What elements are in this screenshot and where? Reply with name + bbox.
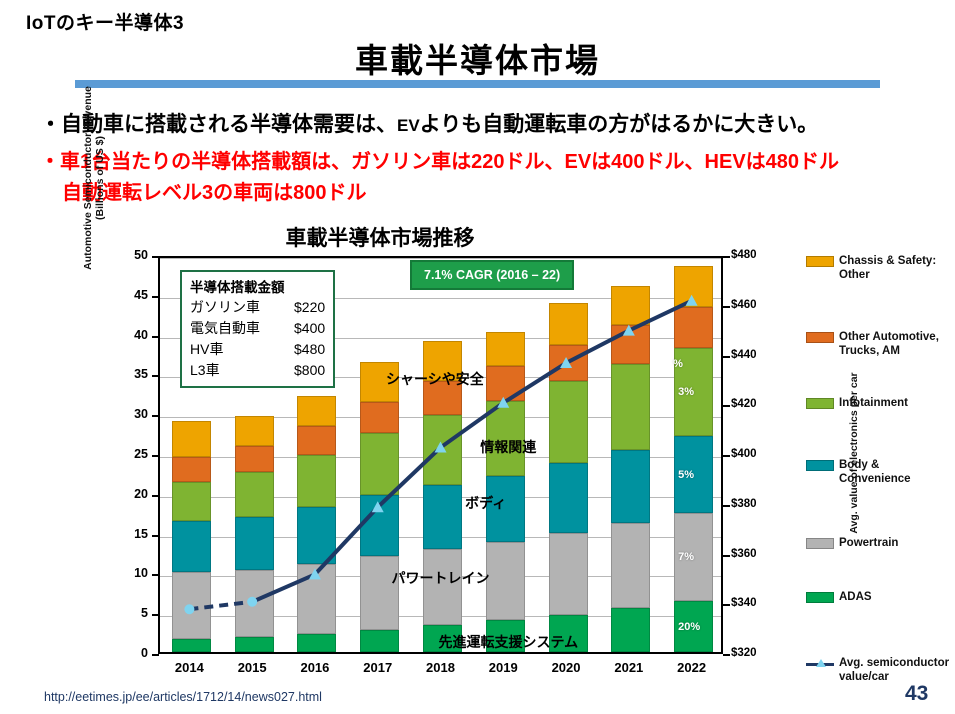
page-number: 43 [905,682,928,706]
y-tick-right: $480 [731,249,785,261]
legend-item-adas[interactable]: ADAS [806,590,872,604]
y-tick-left: 40 [88,328,148,342]
y-tickmark-left [152,535,159,537]
legend-item-label: Powertrain [839,536,898,550]
slide-kicker: IoTのキー半導体3 [26,8,184,35]
bullet-marker-1: ・ [40,113,61,136]
legend-color-swatch-icon [806,332,834,343]
y-tickmark-right [723,356,730,358]
y-tick-right: $360 [731,548,785,560]
y-tickmark-right [723,604,730,606]
y-tickmark-left [152,375,159,377]
legend-color-swatch-icon [806,460,834,471]
y-tick-right: $420 [731,398,785,410]
bullet-item-3: 自動運転レベル3の車両は800ドル [40,176,940,205]
info-box-row-value: $220 [260,297,325,318]
legend-item-powertrain[interactable]: Powertrain [806,536,898,550]
avg-line-dashed [189,602,252,609]
legend-color-swatch-icon [806,256,834,267]
info-box-row: 電気自動車$400 [190,318,325,339]
legend-item-other-automotive-trucks-am[interactable]: Other Automotive, Trucks, AM [806,330,951,358]
x-tick-2015: 2015 [222,660,282,675]
y-tick-left: 35 [88,367,148,381]
info-box-row-label: 電気自動車 [190,318,260,339]
y-tick-left: 25 [88,447,148,461]
y-tickmark-left [152,614,159,616]
y-tickmark-left [152,256,159,258]
y-tickmark-left [152,495,159,497]
y-tickmark-right [723,256,730,258]
x-tick-2014: 2014 [159,660,219,675]
plot-annotation: パワートレイン [392,568,490,588]
legend-item-avg-semiconductor-value-car[interactable]: Avg. semiconductor value/car [806,656,951,684]
y-tick-right: $400 [731,448,785,460]
info-box-semiconductor-amount: 半導体搭載金額 ガソリン車$220電気自動車$400HV車$480L3車$800 [180,270,335,388]
bullet-text-1b: EV [397,116,420,135]
slide-root: IoTのキー半導体3 車載半導体市場 ・自動車に搭載される半導体需要は、EVより… [0,0,955,714]
x-tick-2017: 2017 [348,660,408,675]
y-tick-left: 45 [88,288,148,302]
legend-item-infotainment[interactable]: Infotainment [806,396,908,410]
avg-line-marker [686,295,698,306]
legend-item-body-convenience[interactable]: Body & Convenience [806,458,951,486]
bullet-text-2: 車1台当たりの半導体搭載額は、ガソリン車は220ドル、EVは400ドル、HEVは… [60,151,839,173]
bullet-text-3: 自動運転レベル3の車両は800ドル [62,182,367,204]
y-axis-label-left: Automotive Semiconductor Revenue (Billio… [82,48,106,308]
bullet-text-1c: よりも自動運転車の方がはるかに大きい。 [420,113,819,136]
bullet-text-1a: 自動車に搭載される半導体需要は、 [61,113,397,136]
legend-item-label: ADAS [839,590,872,604]
legend-item-label: Body & Convenience [839,458,951,486]
avg-line-marker [184,604,194,614]
y-tickmark-right [723,455,730,457]
y-tick-left: 20 [88,487,148,501]
legend-line-swatch-icon [806,658,834,669]
y-tickmark-left [152,455,159,457]
legend-item-label: Infotainment [839,396,908,410]
x-tick-2021: 2021 [599,660,659,675]
y-tick-right: $320 [731,647,785,659]
y-tick-left: 50 [88,248,148,262]
info-box-row-value: $800 [260,360,325,381]
x-tick-2020: 2020 [536,660,596,675]
y-tick-right: $380 [731,498,785,510]
info-box-row-value: $480 [260,339,325,360]
y-tickmark-right [723,505,730,507]
y-tick-right: $460 [731,299,785,311]
y-tick-right: $440 [731,349,785,361]
y-tickmark-left [152,296,159,298]
info-box-row-label: L3車 [190,360,260,381]
y-tick-left: 5 [88,606,148,620]
x-tick-2016: 2016 [285,660,345,675]
plot-annotation: 先進運転支援システム [439,632,579,652]
x-tick-2018: 2018 [411,660,471,675]
legend-color-swatch-icon [806,538,834,549]
info-box-row-label: ガソリン車 [190,297,260,318]
info-box-row-label: HV車 [190,339,260,360]
cagr-badge: 7.1% CAGR (2016 – 22) [410,260,574,290]
legend-item-label: Chassis & Safety: Other [839,254,951,282]
plot-annotation: ボディ [465,493,506,513]
y-tick-left: 15 [88,527,148,541]
chart-area: Automotive Semiconductor Revenue (Billio… [88,248,955,683]
info-box-title: 半導体搭載金額 [190,276,325,296]
x-tick-2019: 2019 [473,660,533,675]
bullet-marker-2: ・ [40,151,60,173]
bullet-item-1: ・自動車に搭載される半導体需要は、EVよりも自動運転車の方がはるかに大きい。 [40,108,940,138]
bullet-list: ・自動車に搭載される半導体需要は、EVよりも自動運転車の方がはるかに大きい。 ・… [40,108,940,205]
legend-color-swatch-icon [806,592,834,603]
y-tickmark-left [152,574,159,576]
y-tick-left: 10 [88,566,148,580]
y-tickmark-right [723,306,730,308]
y-tickmark-left [152,415,159,417]
y-tickmark-right [723,654,730,656]
source-url[interactable]: http://eetimes.jp/ee/articles/1712/14/ne… [44,690,322,704]
info-box-row: ガソリン車$220 [190,297,325,318]
y-tickmark-left [152,336,159,338]
plot-annotation: シャーシや安全 [386,369,484,389]
y-tickmark-right [723,405,730,407]
page-title: 車載半導体市場 [0,34,955,82]
plot-annotation: 情報関連 [480,437,536,457]
legend-item-label: Avg. semiconductor value/car [839,656,951,684]
avg-line-marker [247,597,257,607]
y-tick-left: 0 [88,646,148,660]
y-tick-right: $340 [731,597,785,609]
info-box-table: ガソリン車$220電気自動車$400HV車$480L3車$800 [190,297,325,381]
y-tick-left: 30 [88,407,148,421]
x-tick-2022: 2022 [662,660,722,675]
info-box-row: HV車$480 [190,339,325,360]
legend-item-label: Other Automotive, Trucks, AM [839,330,951,358]
info-box-row: L3車$800 [190,360,325,381]
info-box-row-value: $400 [260,318,325,339]
bullet-item-2: ・車1台当たりの半導体搭載額は、ガソリン車は220ドル、EVは400ドル、HEV… [40,145,940,174]
legend-item-chassis-safety-other[interactable]: Chassis & Safety: Other [806,254,951,282]
y-tickmark-right [723,555,730,557]
y-tickmark-left [152,654,159,656]
title-divider [75,80,880,88]
legend-color-swatch-icon [806,398,834,409]
